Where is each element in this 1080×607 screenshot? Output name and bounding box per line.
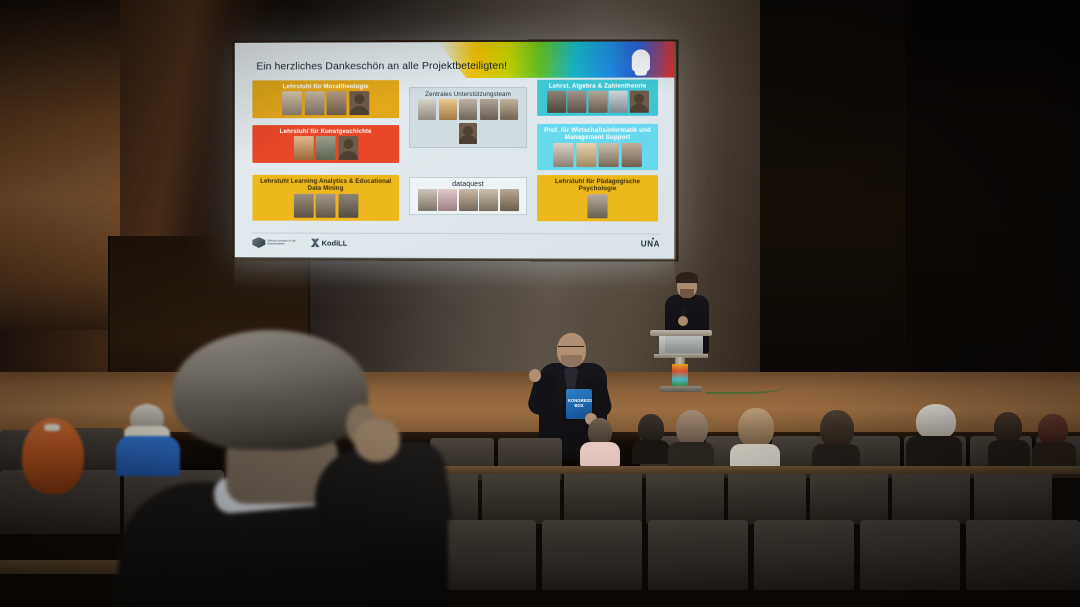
floor-cable (706, 378, 786, 394)
portrait (438, 189, 457, 211)
audience-member (632, 414, 670, 464)
portrait (305, 92, 325, 116)
portrait-placeholder (338, 136, 358, 160)
audience-body (906, 436, 962, 466)
portrait (293, 194, 313, 218)
portrait (500, 189, 519, 211)
lectern-glass-panel (659, 335, 703, 355)
audience-body (580, 442, 620, 466)
audience-head (738, 408, 774, 448)
cube-icon (252, 237, 265, 248)
audience-member (730, 408, 780, 466)
audience-head (916, 404, 956, 440)
audience-body (988, 440, 1030, 466)
portrait (500, 99, 518, 120)
portrait (547, 91, 566, 113)
portrait (587, 194, 607, 218)
portrait (439, 99, 457, 120)
lectern-speaker-beard (680, 289, 694, 298)
portrait (316, 194, 336, 218)
left-wall-warm-panel (0, 0, 120, 330)
desk-surface (396, 466, 1080, 474)
footer-logo-group: Stiftung Innovation in der Hochschullehr… (252, 237, 347, 248)
portrait (316, 136, 336, 160)
una-logo: UNA (641, 239, 660, 248)
seat (810, 470, 888, 524)
seat (482, 470, 560, 524)
puzzle-piece-icon (632, 49, 650, 71)
ministry-logo: Stiftung Innovation in der Hochschullehr… (252, 237, 302, 248)
seat (646, 470, 724, 524)
portrait-group-dataquest (410, 189, 526, 214)
panel-label-kunstgeschichte: Lehrstuhl für Kunstgeschichte (252, 125, 399, 136)
slide-title: Ein herzliches Dankeschön an alle Projek… (256, 60, 507, 73)
panel-algebra-zahlentheorie: Lehrst. Algebra & Zahlentheorie (537, 80, 658, 117)
portrait (458, 189, 477, 211)
portrait-placeholder (629, 91, 648, 113)
foreground-audience-member (118, 330, 448, 607)
seat (974, 470, 1052, 524)
foreground-hair (173, 330, 368, 450)
portrait (293, 136, 313, 160)
glasses-icon (558, 346, 584, 351)
slide-panel-grid: Lehrstuhl für Moraltheologie Lehrstuhl f… (252, 80, 656, 231)
portrait-group-wirtschaftsinformatik (537, 143, 658, 170)
panel-kunstgeschichte: Lehrstuhl für Kunstgeschichte (252, 125, 399, 163)
portrait (576, 143, 596, 167)
audience-body (730, 444, 780, 468)
portrait-group-kunstgeschichte (252, 136, 399, 163)
panel-zentrales-unterstuetzungsteam: Zentrales Unterstützungsteam (409, 87, 527, 148)
seat (564, 470, 642, 524)
portrait (609, 91, 628, 113)
seat (860, 520, 960, 590)
audience-member (668, 410, 714, 466)
panel-label-algebra-zahlentheorie: Lehrst. Algebra & Zahlentheorie (537, 80, 658, 92)
portrait-placeholder (459, 123, 477, 144)
right-wall-dark-panel (760, 0, 910, 420)
panel-label-moraltheologie: Lehrstuhl für Moraltheologie (252, 80, 399, 92)
presenter-beard (561, 355, 582, 367)
panel-label-zentrales-unterstuetzungsteam: Zentrales Unterstützungsteam (410, 88, 526, 100)
foreground-hand (354, 418, 400, 462)
portrait-group-algebra-zahlentheorie (537, 91, 658, 116)
audience-body (812, 444, 860, 468)
portrait (621, 143, 641, 167)
lectern-speaker-hand (678, 316, 688, 326)
seat (542, 520, 642, 590)
lectern-speaker-hair (676, 272, 698, 283)
seat (728, 470, 806, 524)
portrait (588, 91, 607, 113)
portrait (553, 143, 573, 167)
lectern (650, 330, 712, 392)
seat (892, 470, 970, 524)
portrait (418, 189, 437, 211)
panel-dataquest: dataquest (409, 177, 527, 216)
presenter-box-label: KONGRESS BOX (568, 399, 590, 408)
seat (966, 520, 1080, 590)
panel-moraltheologie: Lehrstuhl für Moraltheologie (252, 80, 399, 118)
lectern-base (660, 386, 702, 392)
slide-footer: Stiftung Innovation in der Hochschullehr… (252, 233, 660, 253)
audience-body (668, 442, 714, 468)
audience-head (676, 410, 708, 446)
portrait (567, 91, 586, 113)
portrait-group-zentrales-unterstuetzungsteam (410, 99, 526, 147)
portrait-group-learning-analytics (252, 194, 399, 221)
portrait (338, 194, 358, 218)
hair-tie (44, 424, 60, 431)
kodill-mark-icon (311, 238, 320, 247)
portrait (459, 99, 477, 120)
kodill-logo: KodiLL (311, 238, 348, 247)
projection-screen: Ein herzliches Dankeschön an alle Projek… (235, 41, 675, 258)
portrait-group-paedagogische-psychologie (537, 194, 658, 221)
portrait (418, 99, 436, 120)
seat (436, 520, 536, 590)
ministry-logo-text: Stiftung Innovation in der Hochschullehr… (267, 239, 303, 245)
portrait-group-moraltheologie (252, 92, 399, 119)
lectern-top-surface (650, 330, 712, 336)
portrait (479, 99, 497, 120)
audience-member (906, 404, 962, 466)
panel-wirtschaftsinformatik: Prof. für Wirtschaftsinformatik und Mana… (537, 124, 658, 170)
portrait (282, 92, 302, 116)
audience-member (988, 412, 1030, 466)
audience-body (1032, 442, 1076, 466)
kodill-logo-label: KodiLL (322, 238, 348, 247)
audience-member (1032, 414, 1076, 466)
presentation-slide: Ein herzliches Dankeschön an alle Projek… (235, 41, 675, 258)
presenter-left-hand (529, 369, 541, 382)
lecture-hall-scene: Ein herzliches Dankeschön an alle Projek… (0, 0, 1080, 607)
audience-member (812, 410, 860, 466)
panel-label-wirtschaftsinformatik: Prof. für Wirtschaftsinformatik und Mana… (537, 124, 658, 143)
panel-label-dataquest: dataquest (410, 178, 526, 190)
audience-head (820, 410, 854, 448)
panel-paedagogische-psychologie: Lehrstuhl für Pädagogische Psychologie (537, 175, 658, 221)
seat (754, 520, 854, 590)
portrait (479, 189, 498, 211)
panel-label-paedagogische-psychologie: Lehrstuhl für Pädagogische Psychologie (537, 175, 658, 194)
portrait-placeholder (349, 92, 369, 116)
window-wall (905, 0, 1080, 420)
audience-member (580, 418, 620, 464)
portrait (599, 143, 619, 167)
audience-member-redhair (18, 418, 88, 506)
panel-learning-analytics: Lehrstuhl Learning Analytics & Education… (252, 175, 399, 221)
panel-label-learning-analytics: Lehrstuhl Learning Analytics & Education… (252, 175, 399, 194)
audience-body (632, 440, 670, 464)
seat (648, 520, 748, 590)
portrait (327, 92, 347, 116)
